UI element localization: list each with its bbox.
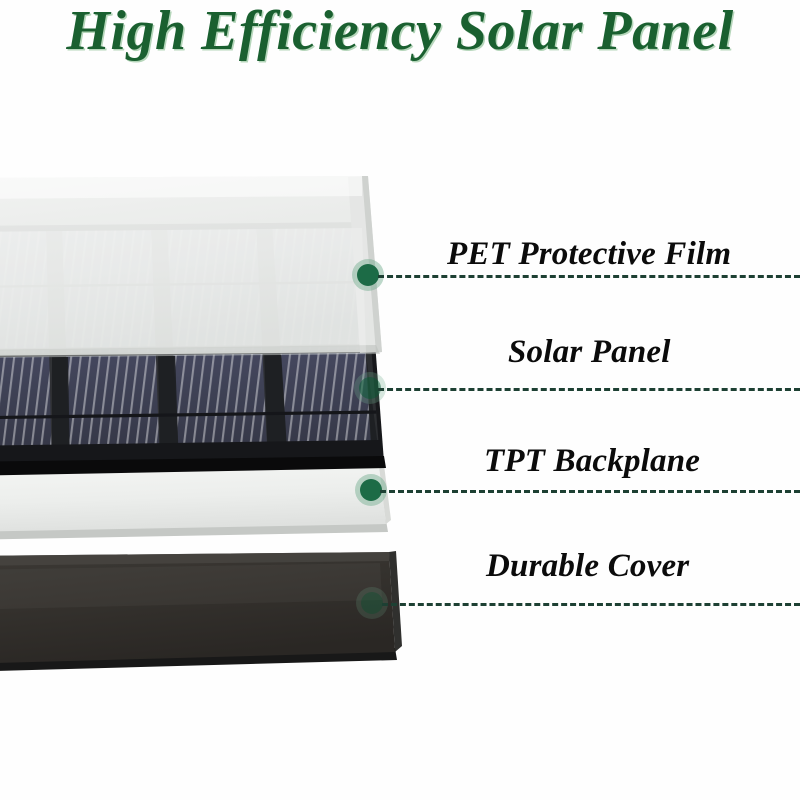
layer-label-durable-cover: Durable Cover	[486, 548, 689, 585]
leader-line-pet-film	[378, 275, 800, 278]
callout-dot	[360, 479, 382, 501]
exploded-layer-diagram	[0, 0, 800, 800]
layer-label-tpt-backplane: TPT Backplane	[484, 443, 700, 480]
callout-dot	[357, 264, 379, 286]
product-infographic: High Efficiency Solar Panel	[0, 0, 800, 800]
leader-line-solar-panel	[378, 388, 800, 391]
leader-line-durable-cover	[382, 603, 800, 606]
leader-line-tpt-backplane	[380, 490, 800, 493]
layer-label-solar-panel: Solar Panel	[508, 334, 671, 371]
layer-label-pet-film: PET Protective Film	[447, 236, 731, 273]
layer-durable-cover	[0, 551, 402, 672]
callout-dot	[361, 592, 383, 614]
layer-pet-film	[0, 176, 382, 358]
